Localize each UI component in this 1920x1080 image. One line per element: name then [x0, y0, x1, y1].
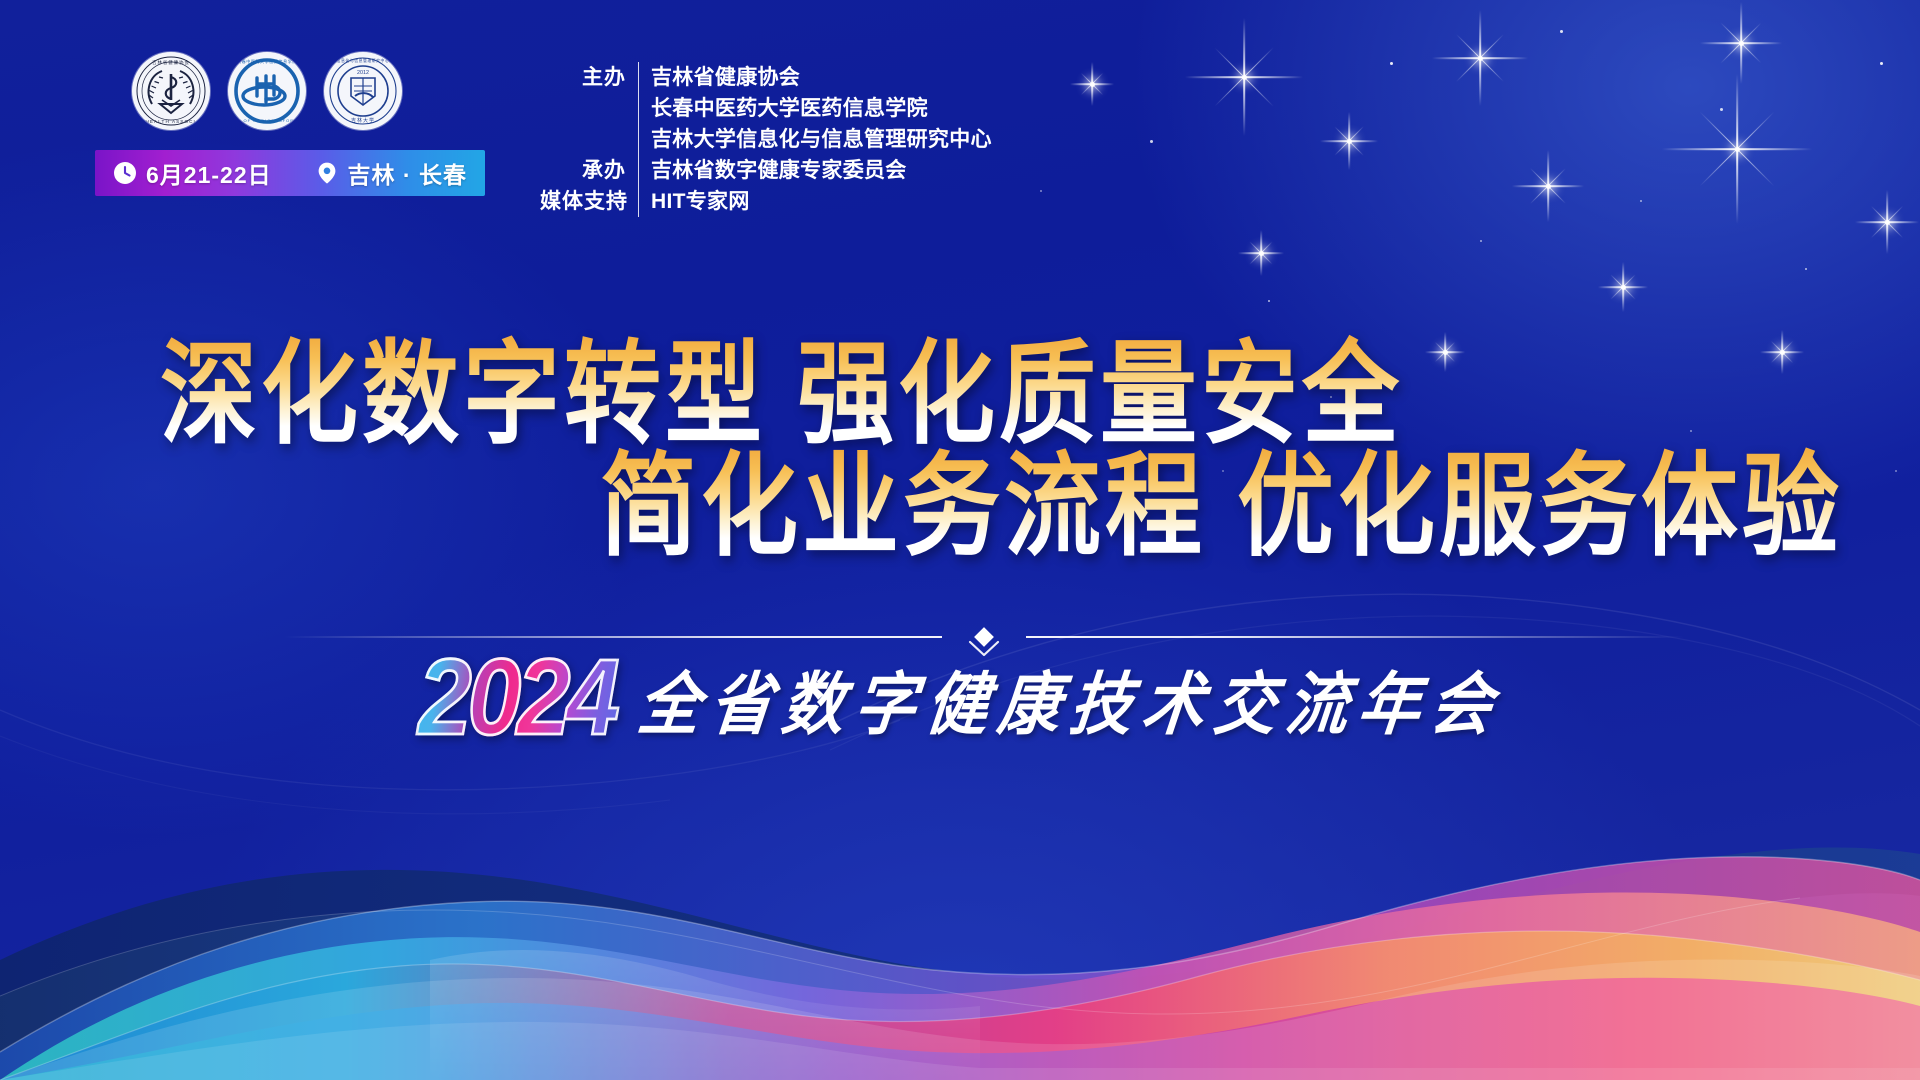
svg-text:JILIN HEALTH ASSOCIATION: JILIN HEALTH ASSOCIATION [132, 119, 210, 124]
svg-text:吉林大学: 吉林大学 [351, 117, 375, 124]
organizer-divider [638, 155, 639, 186]
event-year: 2024 [418, 644, 616, 752]
star-glow-icon [1512, 150, 1584, 222]
star-glow-icon [1700, 2, 1782, 84]
star-glow-icon [1238, 230, 1284, 276]
clock-icon [113, 161, 137, 185]
star-glow-icon [1855, 190, 1919, 254]
organizer-row: 长春中医药大学医药信息学院 [540, 93, 992, 124]
location-group: 吉林 · 长春 [315, 156, 467, 190]
headline-line-1: 深化数字转型 强化质量安全 [160, 330, 1920, 460]
divider-rule-right [1026, 636, 1684, 638]
svg-text:吉林省健康协会: 吉林省健康协会 [152, 59, 190, 66]
svg-text:SCHOOL OF MEDICA INFORMATION: SCHOOL OF MEDICA INFORMATION [228, 118, 306, 123]
star-glow-icon [1070, 62, 1114, 106]
event-subtitle-block: 2024 全省数字健康技术交流年会 [0, 650, 1920, 746]
organizer-divider [638, 186, 639, 217]
organizer-divider [638, 124, 639, 155]
svg-text:2012: 2012 [357, 70, 369, 76]
logo-changchun-medical-information-school: SCHOOL OF MEDICA INFORMATION 长春中医药大学医药信息… [228, 52, 306, 130]
headline-line-2: 简化业务流程 优化服务体验 [600, 442, 1920, 572]
organizer-label: 承办 [540, 155, 626, 186]
organizer-row: 媒体支持 HIT专家网 [540, 186, 992, 217]
star-glow-icon [1598, 262, 1648, 312]
svg-text:信息化与信息管理研究中心: 信息化与信息管理研究中心 [337, 58, 390, 63]
date-location-bar: 6月21-22日 吉林 · 长春 [95, 150, 485, 196]
organizer-label: 媒体支持 [540, 186, 626, 217]
organizer-row: 吉林大学信息化与信息管理研究中心 [540, 124, 992, 155]
organizer-value: 吉林省数字健康专家委员会 [651, 155, 907, 186]
organizer-value: 长春中医药大学医药信息学院 [651, 93, 928, 124]
svg-text:长春中医药大学医药信息学院: 长春中医药大学医药信息学院 [237, 58, 297, 64]
headline-block: 深化数字转型 强化质量安全 简化业务流程 优化服务体验 [0, 330, 1920, 554]
conference-poster: JILIN HEALTH ASSOCIATION 吉林省健康协会 SCHOOL … [0, 0, 1920, 1080]
organizer-info-block: 主办 吉林省健康协会 长春中医药大学医药信息学院 吉林大学信息化与信息管理研究中… [540, 62, 992, 217]
star-glow-icon [1320, 112, 1378, 170]
organizer-divider [638, 93, 639, 124]
organizer-label: 主办 [540, 62, 626, 93]
star-glow-icon [1662, 74, 1812, 224]
organizer-logos: JILIN HEALTH ASSOCIATION 吉林省健康协会 SCHOOL … [132, 52, 402, 130]
star-glow-icon [1432, 10, 1528, 106]
logo-jilin-university-info-research-center: 2012 信息化与信息管理研究中心 吉林大学 [324, 52, 402, 130]
organizer-divider [638, 62, 639, 93]
star-glow-icon [1185, 18, 1303, 136]
event-name: 全省数字健康技术交流年会 [633, 666, 1506, 750]
organizer-value: 吉林大学信息化与信息管理研究中心 [651, 124, 992, 155]
location-pin-icon [315, 161, 339, 185]
logo-jilin-health-association: JILIN HEALTH ASSOCIATION 吉林省健康协会 [132, 52, 210, 130]
organizer-row: 主办 吉林省健康协会 [540, 62, 992, 93]
organizer-value: HIT专家网 [651, 186, 750, 217]
organizer-row: 承办 吉林省数字健康专家委员会 [540, 155, 992, 186]
date-group: 6月21-22日 [113, 156, 272, 190]
organizer-value: 吉林省健康协会 [651, 62, 800, 93]
location-text: 吉林 · 长春 [348, 156, 467, 190]
date-text: 6月21-22日 [146, 156, 272, 190]
